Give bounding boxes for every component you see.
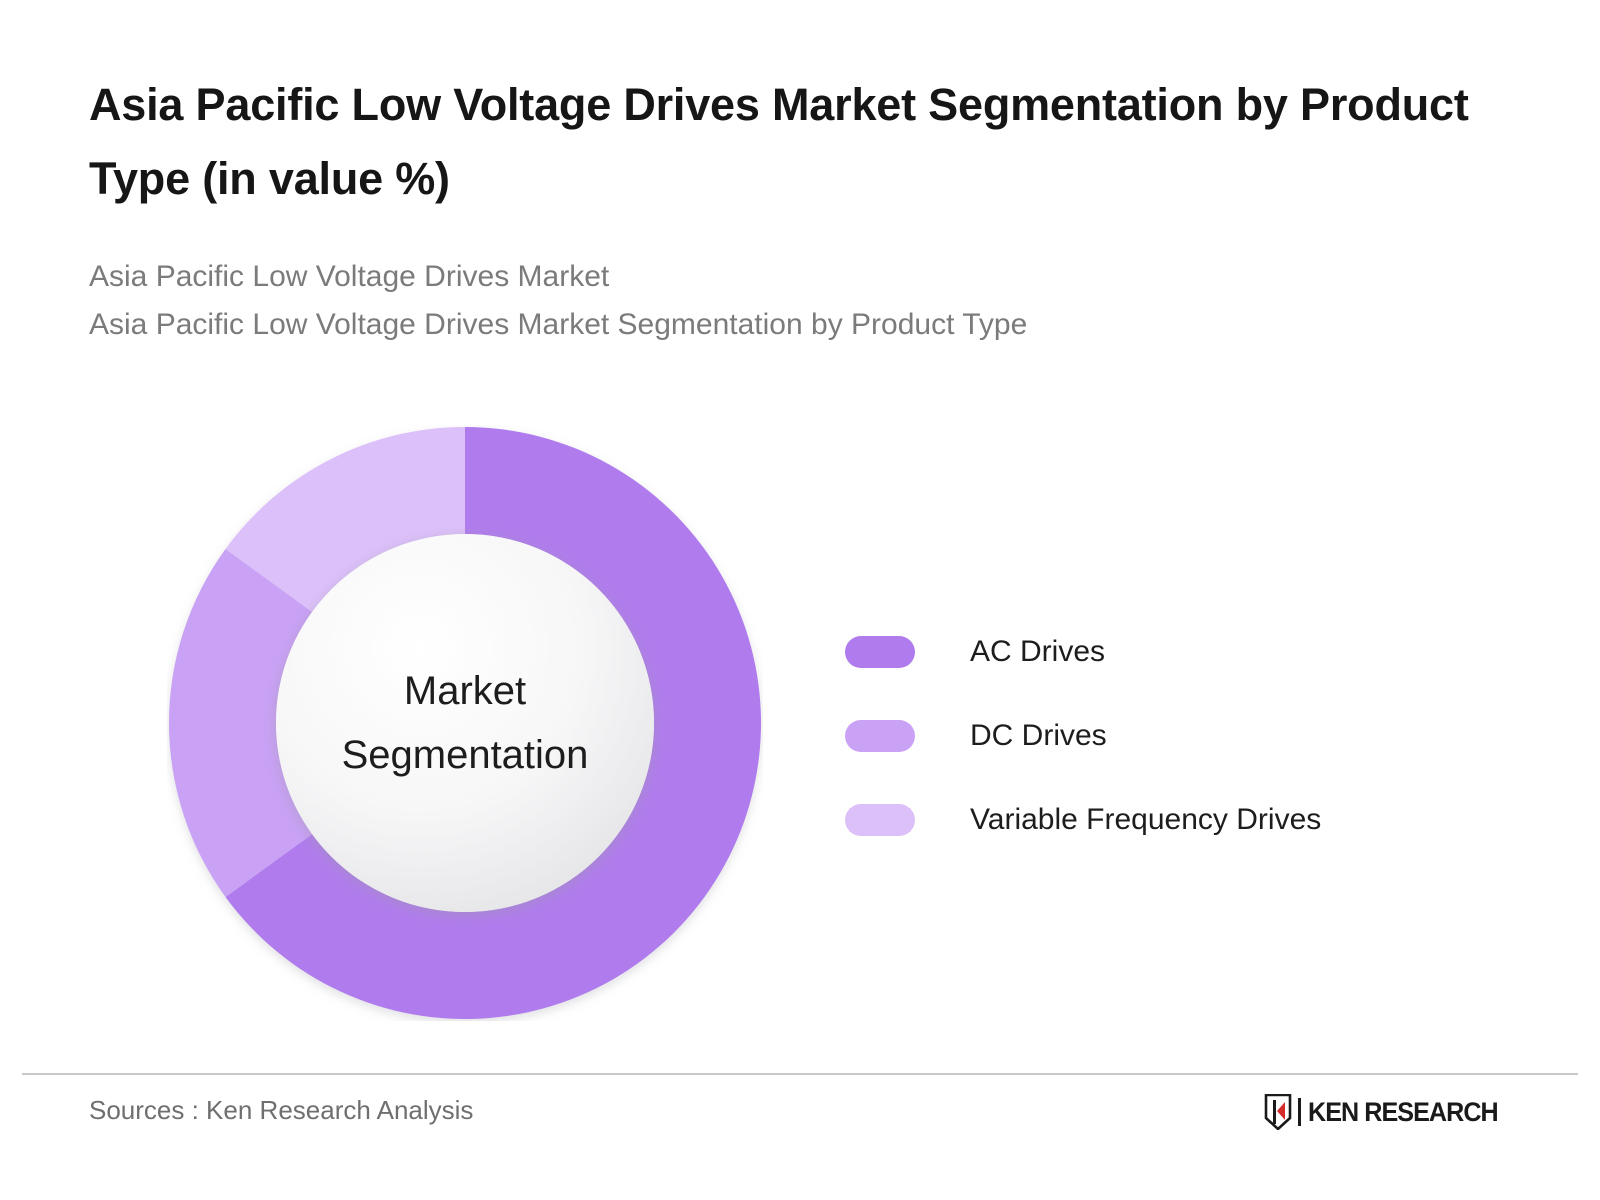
subtitle-line-2: Asia Pacific Low Voltage Drives Market S… [89,301,1389,349]
legend-item-variable-frequency-drives[interactable]: Variable Frequency Drives [845,778,1321,862]
sources-text: Sources : Ken Research Analysis [89,1095,473,1126]
donut-chart: Market Segmentation [167,425,763,1021]
brand-name: KEN RESEARCH [1308,1097,1498,1128]
subtitle-line-1: Asia Pacific Low Voltage Drives Market [89,253,1389,301]
legend-swatch-icon [845,720,915,752]
legend-swatch-icon [845,636,915,668]
legend-item-dc-drives[interactable]: DC Drives [845,694,1321,778]
donut-center-hole [276,534,654,912]
slide-canvas: Asia Pacific Low Voltage Drives Market S… [0,0,1600,1200]
brand-divider [1298,1098,1301,1126]
chart-area: Market Segmentation AC Drives DC Drives … [0,390,1600,1060]
subtitle-block: Asia Pacific Low Voltage Drives Market A… [89,253,1389,349]
ken-research-shield-icon [1264,1094,1292,1130]
legend-item-ac-drives[interactable]: AC Drives [845,610,1321,694]
legend-label: AC Drives [970,635,1105,669]
legend-label: Variable Frequency Drives [970,803,1321,837]
donut-chart-svg [167,425,763,1021]
brand-logo: KEN RESEARCH [1264,1093,1512,1131]
footer-divider [22,1073,1578,1075]
legend-label: DC Drives [970,719,1107,753]
page-title: Asia Pacific Low Voltage Drives Market S… [89,68,1489,216]
chart-legend: AC Drives DC Drives Variable Frequency D… [845,610,1321,862]
legend-swatch-icon [845,804,915,836]
